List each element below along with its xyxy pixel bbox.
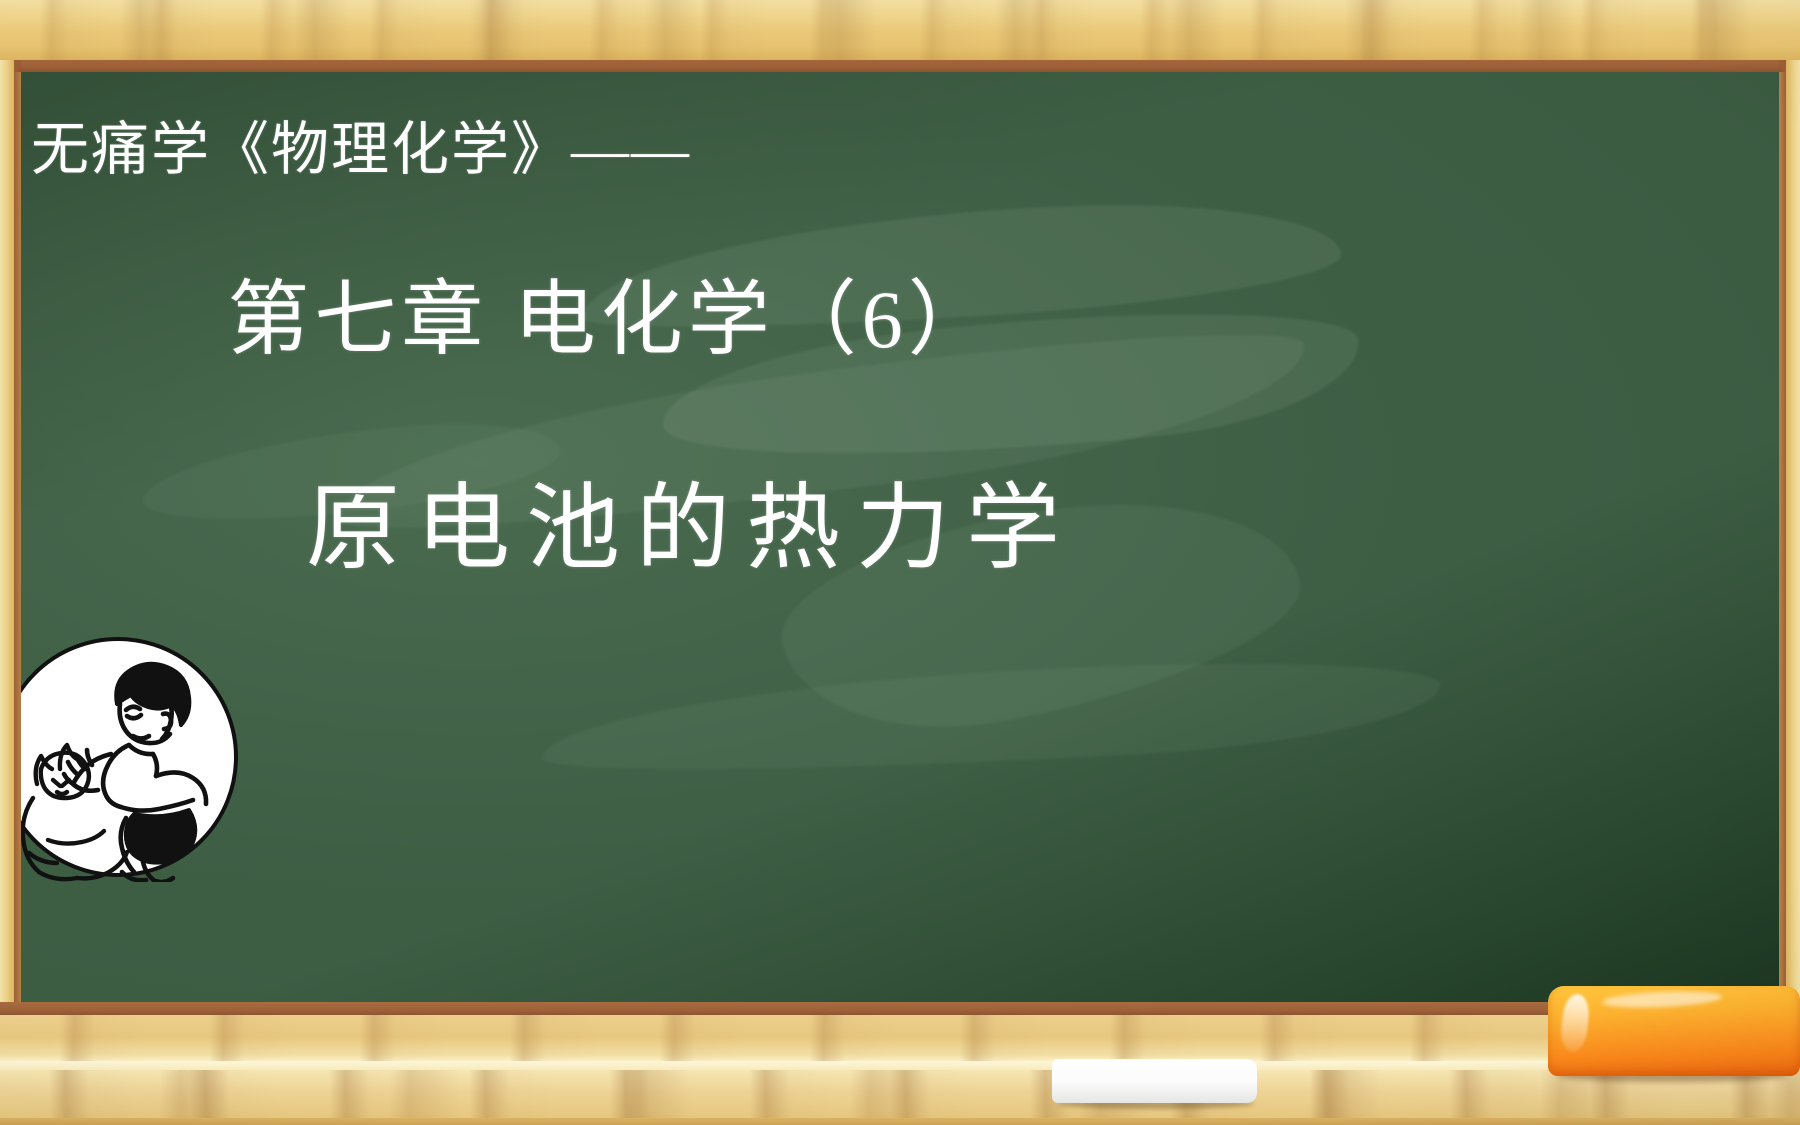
frame-right-wood [1786,60,1800,1066]
frame-left-wood [0,60,14,1066]
ledge-upper-plank [0,1015,1800,1061]
ledge-seam-highlight [0,1061,1800,1070]
ledge-lip [0,1002,1800,1015]
frame-top-wood [0,0,1800,60]
eraser-highlight-top [1602,989,1723,1009]
ledge-lower-plank [0,1070,1800,1118]
board-eraser-icon [1548,986,1800,1086]
chapter-title: 第七章 电化学（6） [21,252,1201,371]
eraser-body [1548,986,1800,1076]
lesson-title: 原电池的热力学 [21,452,1361,588]
frame-top-inner-edge [0,60,1800,72]
frame-left-inner-edge [14,60,21,1066]
chalkboard-surface: 无痛学《物理化学》—— 第七章 电化学（6） 原电池的热力学 [21,72,1779,1002]
ledge-bottom-edge [0,1118,1800,1125]
chalkboard-slide: 无痛学《物理化学》—— 第七章 电化学（6） 原电池的热力学 [0,0,1800,1125]
chalk-stick-icon [1052,1059,1257,1109]
series-label: 无痛学《物理化学》—— [31,102,691,186]
avatar-boy-with-cat-icon [21,632,243,882]
chalk-body [1052,1059,1257,1103]
frame-right-inner-edge [1779,60,1786,1066]
chalk-ledge [0,1002,1800,1125]
eraser-highlight [1559,993,1591,1053]
